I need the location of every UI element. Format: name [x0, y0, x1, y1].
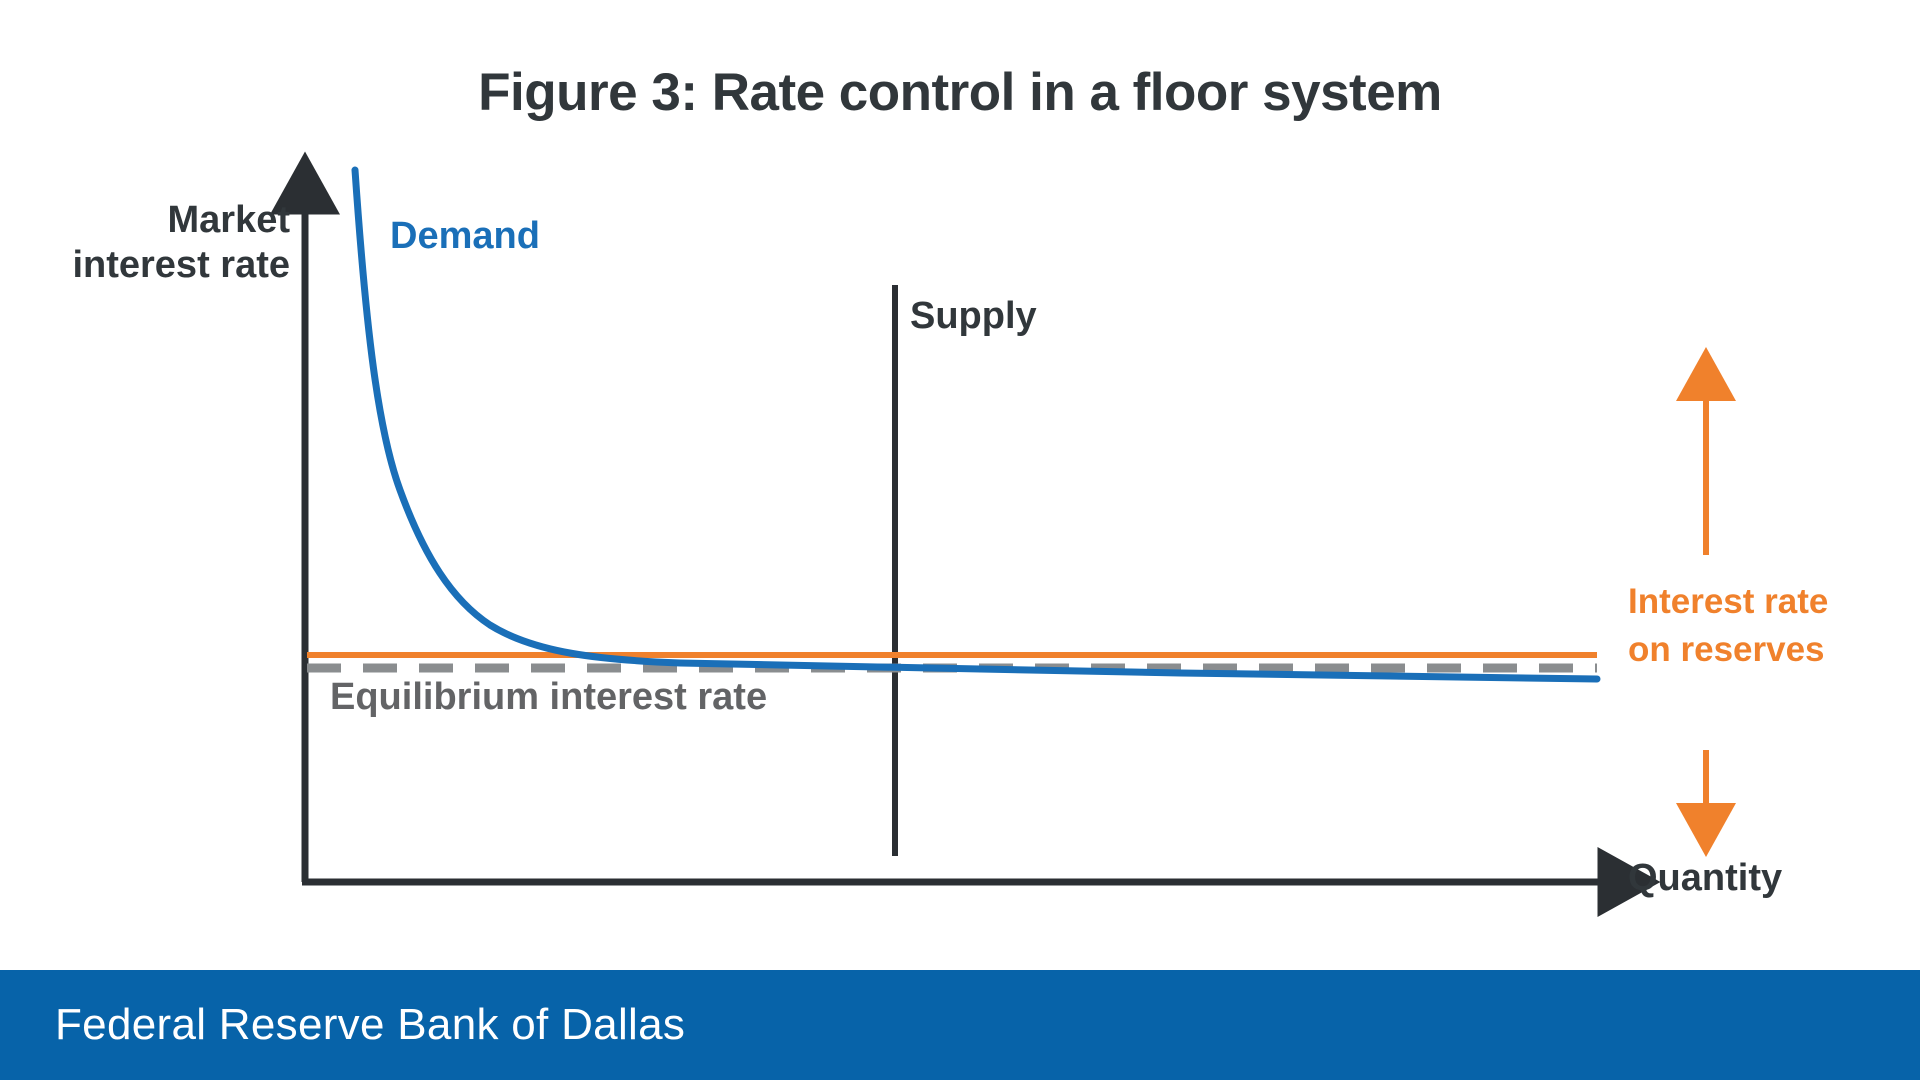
- y-axis-label: Market interest rate: [60, 198, 290, 288]
- demand-curve: [355, 170, 1597, 679]
- footer-organization-name: Federal Reserve Bank of Dallas: [55, 1000, 685, 1050]
- slide-canvas: Figure 3: Rate control in a floor system…: [0, 0, 1920, 1080]
- x-axis-label: Quantity: [1628, 857, 1782, 900]
- chart-plot: [0, 0, 1920, 970]
- interest-rate-on-reserves-label: Interest rate on reserves: [1628, 578, 1838, 674]
- demand-curve-label: Demand: [390, 215, 540, 258]
- equilibrium-rate-label: Equilibrium interest rate: [330, 676, 767, 719]
- supply-line-label: Supply: [910, 295, 1037, 338]
